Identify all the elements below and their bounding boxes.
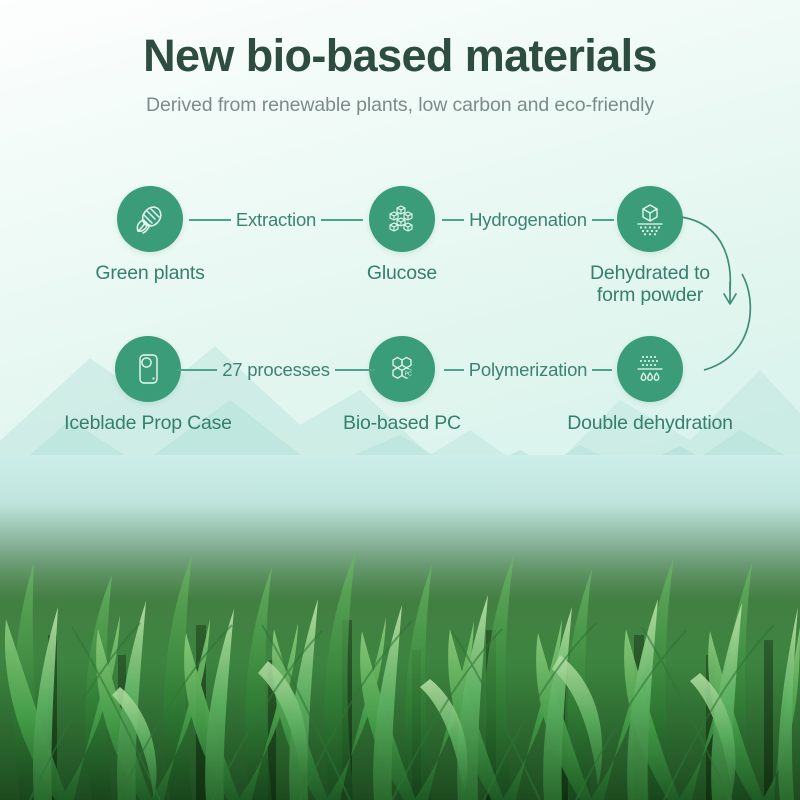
molecule-pc-icon: PC xyxy=(369,336,435,402)
connector-line xyxy=(177,369,217,371)
header: New bio-based materials Derived from ren… xyxy=(0,30,800,117)
flow-node-double-dehydration[interactable]: Double dehydration xyxy=(560,336,740,435)
flow-node-label: Double dehydration xyxy=(560,413,740,435)
connector-line xyxy=(444,369,464,371)
sugarcane-field-photo xyxy=(0,455,800,800)
process-flow-diagram: Green plants Glucose xyxy=(0,178,800,458)
poster-root: New bio-based materials Derived from ren… xyxy=(0,0,800,800)
connector-line xyxy=(189,219,231,221)
connector-27-processes: 27 processes xyxy=(178,360,374,380)
sugarcane-blades xyxy=(0,455,800,800)
flow-node-label: Green plants xyxy=(60,263,240,285)
flow-node-glucose[interactable]: Glucose xyxy=(312,186,492,285)
connector-hydrogenation: Hydrogenation xyxy=(428,210,628,230)
phone-case-icon xyxy=(115,336,181,402)
page-subtitle: Derived from renewable plants, low carbo… xyxy=(0,94,800,117)
connector-label: Hydrogenation xyxy=(469,209,587,231)
connector-polymerization: Polymerization xyxy=(428,360,628,380)
connector-line xyxy=(335,369,375,371)
connector-line xyxy=(592,369,612,371)
connector-line xyxy=(442,219,464,221)
flow-node-label: Dehydrated to form powder xyxy=(560,263,740,307)
connector-extraction: Extraction xyxy=(180,210,372,230)
connector-label: Polymerization xyxy=(469,359,588,381)
flow-node-powder[interactable]: Dehydrated to form powder xyxy=(560,186,740,307)
flow-node-label: Glucose xyxy=(312,263,492,285)
page-title: New bio-based materials xyxy=(0,30,800,82)
sugar-cubes-icon xyxy=(369,186,435,252)
flow-node-bio-based-pc[interactable]: PC Bio-based PC xyxy=(312,336,492,435)
flow-node-green-plants[interactable]: Green plants xyxy=(60,186,240,285)
corn-icon xyxy=(117,186,183,252)
connector-label: Extraction xyxy=(236,209,316,231)
svg-text:PC: PC xyxy=(405,371,412,377)
flow-node-label: Bio-based PC xyxy=(312,413,492,435)
connector-line xyxy=(321,219,363,221)
flow-node-label: Iceblade Prop Case xyxy=(58,413,238,435)
flow-node-iceblade-prop-case[interactable]: Iceblade Prop Case xyxy=(58,336,238,435)
connector-line xyxy=(592,219,614,221)
connector-label: 27 processes xyxy=(222,359,330,381)
